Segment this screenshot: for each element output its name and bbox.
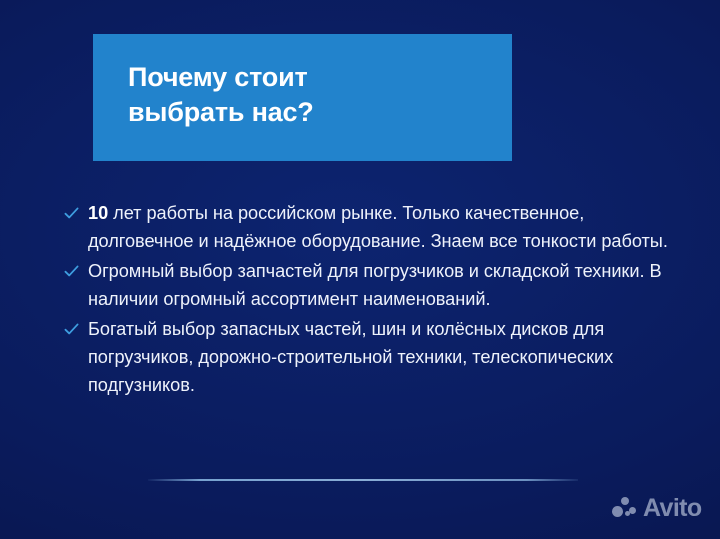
list-item-text: 10 лет работы на российском рынке. Тольк…: [88, 199, 674, 256]
divider-line: [148, 479, 578, 481]
slide-canvas: Почему стоит выбрать нас? 10 лет работы …: [0, 0, 720, 539]
list-item-text: Огромный выбор запчастей для погрузчиков…: [88, 257, 674, 314]
check-icon: [64, 316, 88, 344]
avito-dots-logo-icon: [612, 496, 642, 520]
list-item: Огромный выбор запчастей для погрузчиков…: [64, 257, 674, 314]
avito-watermark: Avito: [612, 496, 702, 520]
list-item: 10 лет работы на российском рынке. Тольк…: [64, 199, 674, 256]
check-icon: [64, 200, 88, 228]
list-item: Богатый выбор запасных частей, шин и кол…: [64, 315, 674, 400]
list-item-body: Огромный выбор запчастей для погрузчиков…: [88, 261, 662, 309]
benefits-list: 10 лет работы на российском рынке. Тольк…: [64, 199, 674, 401]
list-item-body: Богатый выбор запасных частей, шин и кол…: [88, 319, 613, 396]
check-icon: [64, 258, 88, 286]
title-banner: Почему стоит выбрать нас?: [93, 34, 512, 161]
avito-watermark-label: Avito: [643, 496, 702, 520]
list-item-body: лет работы на российском рынке. Только к…: [88, 203, 668, 251]
list-item-lead: 10: [88, 203, 108, 223]
page-title: Почему стоит выбрать нас?: [128, 60, 488, 130]
list-item-text: Богатый выбор запасных частей, шин и кол…: [88, 315, 674, 400]
